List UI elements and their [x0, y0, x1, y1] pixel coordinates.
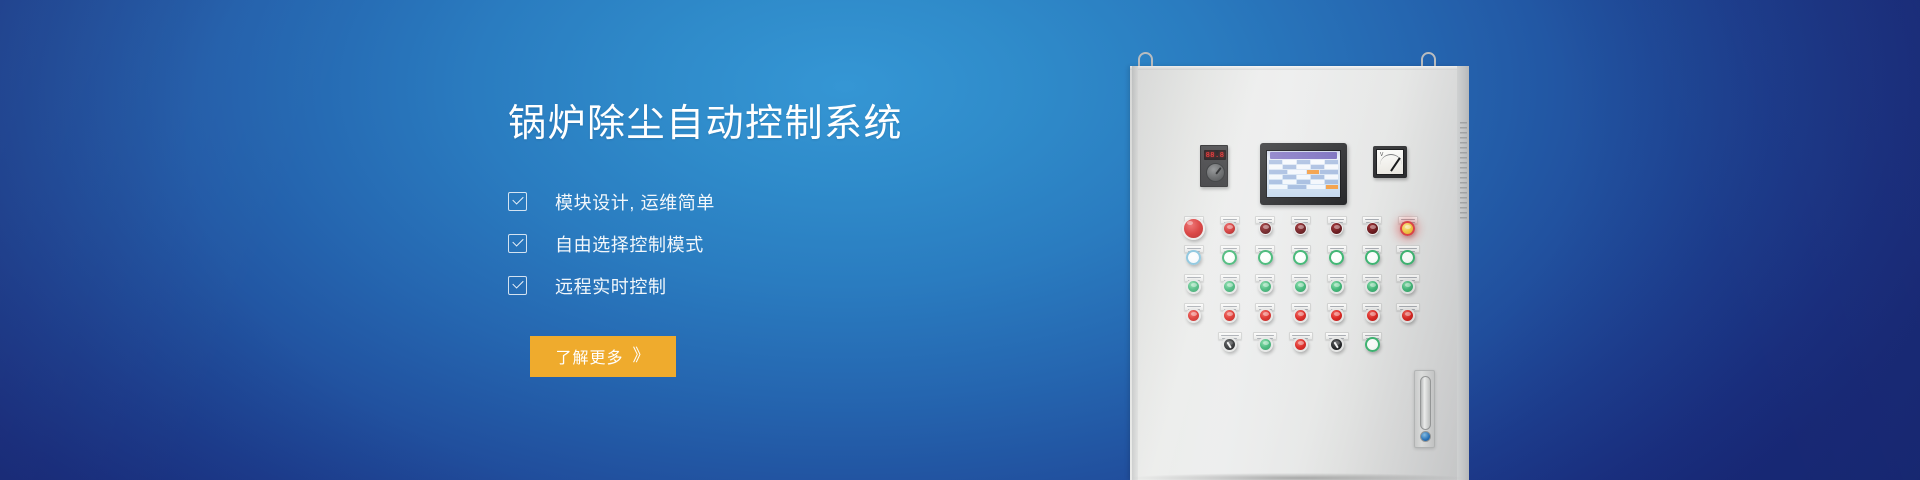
pilot-lamp-icon — [1400, 250, 1415, 265]
panel-selector-knob[interactable] — [1212, 332, 1248, 361]
panel-indicator-dark-red[interactable] — [1354, 216, 1390, 245]
feature-list: 模块设计, 运维简单 自由选择控制模式 远程实时控制 — [508, 182, 1028, 306]
pilot-lamp-icon — [1259, 222, 1272, 235]
panel-button-red[interactable] — [1283, 332, 1319, 361]
selector-knob-icon — [1222, 337, 1237, 352]
panel-button-red[interactable] — [1176, 303, 1212, 332]
handle-grip — [1420, 376, 1431, 430]
list-item: 自由选择控制模式 — [508, 224, 1028, 264]
hero-banner: 锅炉除尘自动控制系统 模块设计, 运维简单 自由选择控制模式 远程实时控制 了解… — [0, 0, 1920, 480]
panel-indicator-white[interactable] — [1247, 245, 1283, 274]
hmi-screen-table — [1269, 160, 1338, 189]
pilot-lamp-icon — [1329, 250, 1344, 265]
checkbox-check-icon — [508, 192, 527, 211]
panel-indicator-dark-red[interactable] — [1319, 216, 1355, 245]
panel-selector-knob[interactable] — [1319, 332, 1355, 361]
cabinet-ground-shadow — [1132, 473, 1462, 480]
control-cabinet-photo: 88.8 — [1122, 40, 1482, 480]
pilot-lamp-icon — [1294, 222, 1307, 235]
panel-button-green[interactable] — [1354, 274, 1390, 303]
push-button-icon — [1365, 279, 1380, 294]
digital-temperature-controller: 88.8 — [1200, 145, 1228, 187]
panel-button-green[interactable] — [1319, 274, 1355, 303]
voltmeter-unit-label: V — [1380, 152, 1383, 158]
panel-button-green[interactable] — [1283, 274, 1319, 303]
pilot-lamp-icon — [1365, 250, 1380, 265]
push-button-icon — [1400, 308, 1415, 323]
door-handle-with-lock[interactable] — [1414, 370, 1435, 448]
learn-more-button[interactable]: 了解更多 》 — [530, 336, 676, 377]
lock-icon[interactable] — [1420, 431, 1431, 442]
panel-button-red[interactable] — [1212, 303, 1248, 332]
voltmeter-needle-icon — [1390, 157, 1400, 171]
feature-label: 远程实时控制 — [555, 273, 667, 299]
white-indicator-row — [1176, 245, 1426, 274]
selector-knob-icon — [1329, 337, 1344, 352]
pilot-lamp-icon — [1258, 250, 1273, 265]
panel-indicator-white[interactable] — [1319, 245, 1355, 274]
panel-indicator-white[interactable] — [1390, 245, 1426, 274]
led-readout-value: 88.8 — [1206, 151, 1225, 159]
checkbox-check-icon — [508, 234, 527, 253]
hmi-screen-titlebar — [1270, 152, 1337, 159]
green-start-row — [1176, 274, 1426, 303]
double-chevron-right-icon: 》 — [633, 347, 651, 364]
pilot-lamp-icon — [1293, 250, 1308, 265]
banner-copy-block: 锅炉除尘自动控制系统 模块设计, 运维简单 自由选择控制模式 远程实时控制 了解… — [508, 104, 1028, 377]
illuminated-pilot-lamp-icon — [1400, 221, 1415, 236]
emergency-stop-row — [1176, 216, 1426, 245]
pilot-lamp-icon — [1366, 222, 1379, 235]
push-button-icon — [1293, 279, 1308, 294]
rotary-dial-icon — [1206, 163, 1225, 182]
push-button-icon — [1400, 279, 1415, 294]
panel-indicator-white[interactable] — [1354, 245, 1390, 274]
panel-button-emergency-stop[interactable] — [1176, 216, 1212, 245]
panel-indicator-white[interactable] — [1354, 332, 1390, 361]
panel-button-red[interactable] — [1390, 303, 1426, 332]
push-button-icon — [1293, 337, 1308, 352]
panel-button-red[interactable] — [1247, 303, 1283, 332]
voltmeter-face: V — [1376, 149, 1404, 175]
pilot-lamp-icon — [1222, 250, 1237, 265]
mushroom-button-icon — [1222, 221, 1237, 236]
hmi-screen — [1266, 150, 1341, 198]
push-button-icon — [1222, 308, 1237, 323]
push-button-icon — [1186, 308, 1201, 323]
panel-indicator-amber-lit[interactable] — [1390, 216, 1426, 245]
analog-voltmeter: V — [1373, 146, 1407, 178]
list-item: 模块设计, 运维简单 — [508, 182, 1028, 222]
panel-indicator-white[interactable] — [1212, 245, 1248, 274]
panel-indicator-dark-red[interactable] — [1283, 216, 1319, 245]
panel-button-red[interactable] — [1283, 303, 1319, 332]
push-button-icon — [1365, 308, 1380, 323]
push-button-icon — [1258, 337, 1273, 352]
led-readout: 88.8 — [1204, 150, 1226, 160]
push-button-icon — [1258, 279, 1273, 294]
cabinet-top-edge — [1130, 66, 1469, 70]
red-stop-row — [1176, 303, 1426, 332]
page-title: 锅炉除尘自动控制系统 — [508, 104, 1028, 146]
button-matrix — [1176, 216, 1426, 361]
push-button-icon — [1293, 308, 1308, 323]
panel-button-green[interactable] — [1390, 274, 1426, 303]
cabinet-left-lip — [1132, 66, 1138, 480]
pilot-lamp-icon — [1365, 337, 1380, 352]
learn-more-label: 了解更多 — [555, 344, 623, 368]
emergency-stop-icon — [1182, 217, 1205, 240]
push-button-icon — [1222, 279, 1237, 294]
ventilation-slots — [1460, 122, 1467, 222]
push-button-icon — [1329, 279, 1344, 294]
push-button-icon — [1258, 308, 1273, 323]
hmi-touchscreen-panel — [1260, 143, 1347, 205]
panel-button-red[interactable] — [1354, 303, 1390, 332]
push-button-icon — [1329, 308, 1344, 323]
panel-button-green[interactable] — [1247, 274, 1283, 303]
feature-label: 模块设计, 运维简单 — [555, 189, 715, 215]
checkbox-check-icon — [508, 276, 527, 295]
panel-button-green[interactable] — [1212, 274, 1248, 303]
selector-switch-row — [1212, 332, 1426, 361]
feature-label: 自由选择控制模式 — [555, 231, 704, 257]
panel-indicator-white[interactable] — [1176, 245, 1212, 274]
push-button-icon — [1186, 279, 1201, 294]
panel-button-red[interactable] — [1319, 303, 1355, 332]
panel-button-green[interactable] — [1176, 274, 1212, 303]
pilot-lamp-icon — [1186, 250, 1201, 265]
panel-indicator-dark-red[interactable] — [1247, 216, 1283, 245]
pilot-lamp-icon — [1330, 222, 1343, 235]
cabinet-door-panel: 88.8 — [1130, 66, 1457, 480]
panel-indicator-white[interactable] — [1283, 245, 1319, 274]
panel-button-green[interactable] — [1247, 332, 1283, 361]
list-item: 远程实时控制 — [508, 266, 1028, 306]
panel-button-mushroom-red[interactable] — [1212, 216, 1248, 245]
